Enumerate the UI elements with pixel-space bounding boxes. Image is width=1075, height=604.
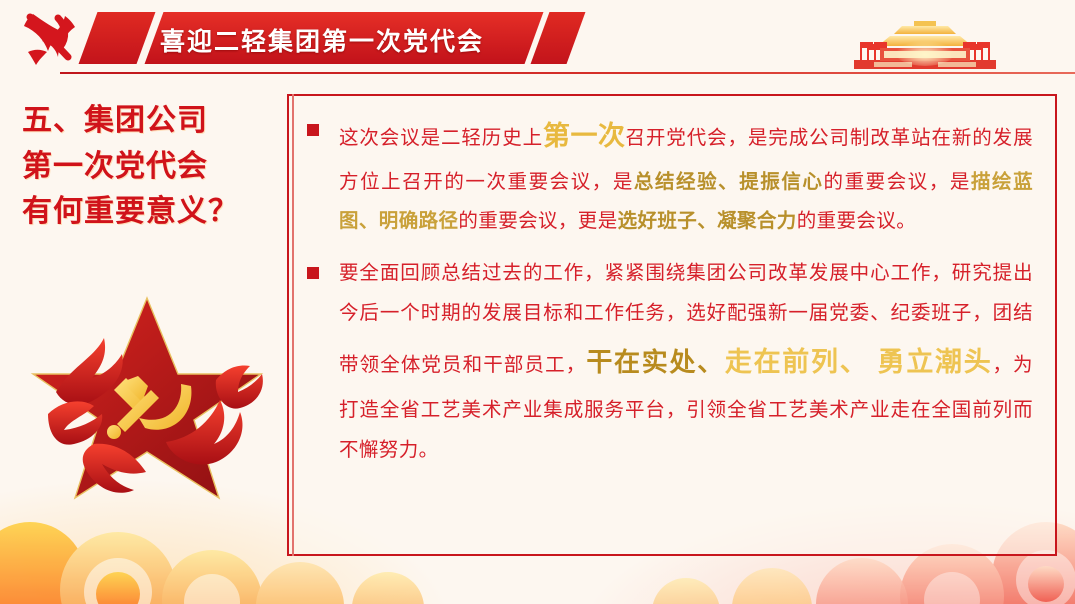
- text-segment: 的重要会议。: [797, 210, 916, 232]
- highlight-team-cohesion: 选好班子、凝聚合力: [618, 210, 797, 232]
- bullet-paragraph-2: 要全面回顾总结过去的工作，紧紧围绕集团公司改革发展中心工作，研究提出今后一个时期…: [307, 253, 1033, 471]
- bullet-item-2: 要全面回顾总结过去的工作，紧紧围绕集团公司改革发展中心工作，研究提出今后一个时期…: [289, 253, 1055, 471]
- page-title-line-3: 有何重要意义？: [22, 189, 272, 235]
- page-title-line-2: 第一次党代会: [22, 144, 272, 190]
- bullet-paragraph-1: 这次会议是二轻历史上第一次召开党代会，是完成公司制改革站在新的发展方位上召开的一…: [307, 110, 1033, 241]
- highlight-summary-confidence: 总结经验、提振信心: [634, 171, 824, 193]
- bullet-item-1: 这次会议是二轻历史上第一次召开党代会，是完成公司制改革站在新的发展方位上召开的一…: [289, 110, 1055, 241]
- header-divider-rule: [60, 72, 1075, 74]
- text-segment: 这次会议是二轻历史上: [339, 127, 543, 149]
- text-segment: 的重要会议，更是: [458, 210, 617, 232]
- page-title-line-1: 五、集团公司: [22, 98, 272, 144]
- square-bullet-icon: [307, 124, 319, 136]
- tiananmen-gate-icon: [850, 18, 1000, 70]
- slide-canvas: 喜迎二轻集团第一次党代会: [0, 0, 1075, 604]
- text-segment: 的重要会议，是: [824, 171, 971, 193]
- party-emblem-hammer-sickle-icon: [18, 9, 80, 67]
- highlight-lead-the-tide: 走在前列、 勇立潮头: [725, 347, 993, 377]
- ribbon-segment-left: [79, 12, 156, 64]
- highlight-do-real-work: 干在实处、: [586, 347, 725, 377]
- page-title: 五、集团公司 第一次党代会 有何重要意义？: [22, 98, 272, 235]
- square-bullet-icon: [307, 267, 319, 279]
- header-banner-title: 喜迎二轻集团第一次党代会: [160, 22, 484, 58]
- highlight-first-time: 第一次: [543, 121, 626, 151]
- slide-header: 喜迎二轻集团第一次党代会: [0, 0, 1075, 84]
- red-star-hammer-sickle-ribbon-icon: [18, 292, 276, 514]
- content-panel: 这次会议是二轻历史上第一次召开党代会，是完成公司制改革站在新的发展方位上召开的一…: [287, 94, 1057, 556]
